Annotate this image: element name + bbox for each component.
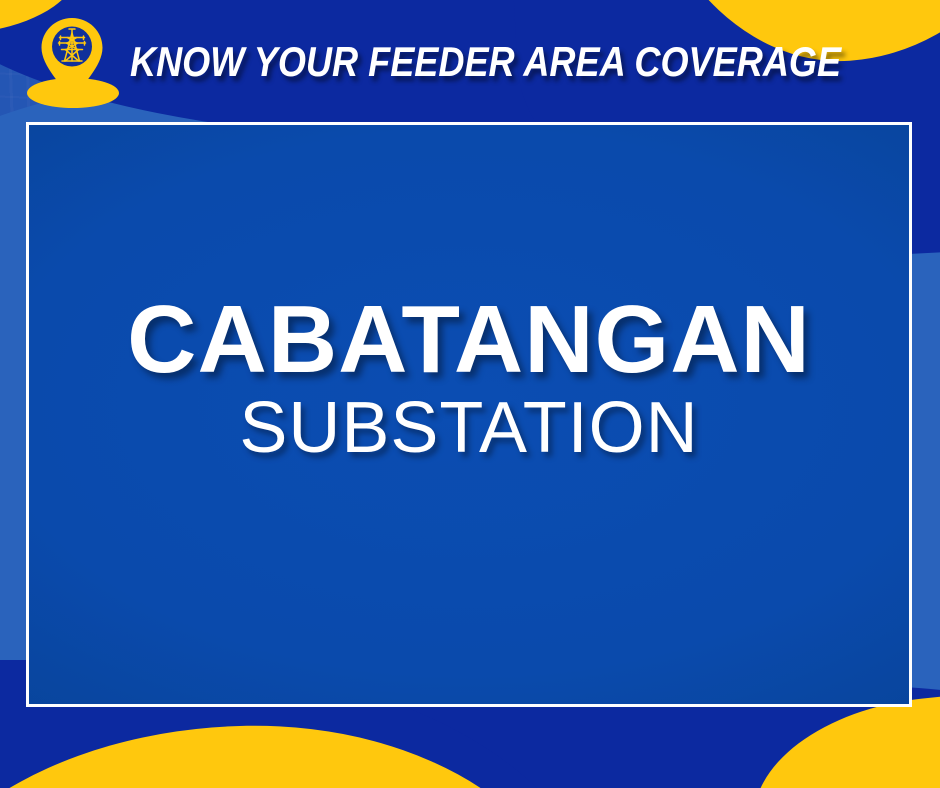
- map-pin-transmission-tower-icon: [22, 5, 122, 115]
- map-pin-icon: [40, 17, 104, 99]
- substation-label: SUBSTATION: [239, 392, 698, 464]
- poster-header: KNOW YOUR FEEDER AREA COVERAGE: [0, 0, 940, 120]
- substation-name: CABATANGAN: [127, 293, 811, 387]
- page-title: KNOW YOUR FEEDER AREA COVERAGE: [130, 37, 841, 83]
- poster-canvas: KNOW YOUR FEEDER AREA COVERAGE CABATANGA…: [0, 0, 940, 788]
- substation-card: CABATANGAN SUBSTATION: [26, 122, 912, 707]
